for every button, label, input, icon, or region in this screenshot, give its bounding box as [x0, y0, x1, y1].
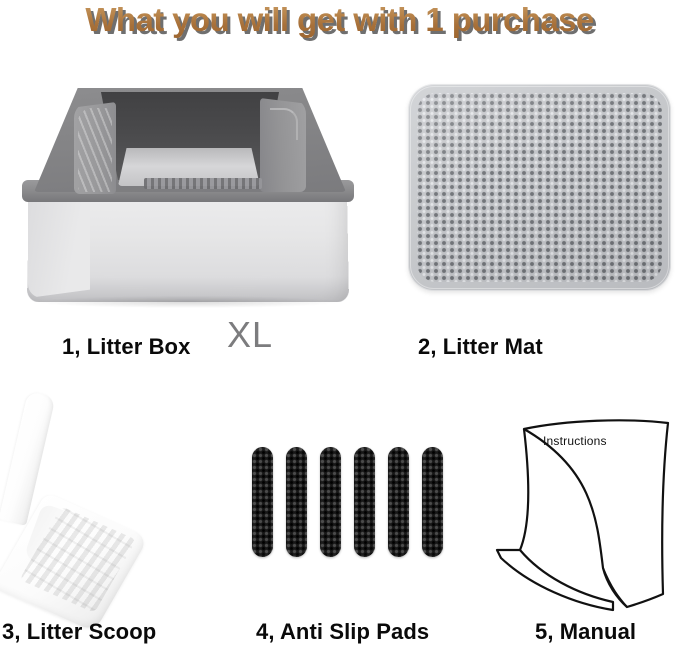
product-image-litter-scoop — [4, 388, 204, 608]
anti-slip-pad — [422, 447, 443, 557]
product-image-litter-box: XL — [22, 82, 362, 312]
anti-slip-pad — [388, 447, 409, 557]
item-label-litter-box: 1, Litter Box — [62, 334, 190, 360]
item-label-litter-scoop: 3, Litter Scoop — [2, 619, 156, 645]
manual-instructions-text: Instructions — [543, 434, 607, 448]
manual-sheet-illustration — [487, 398, 677, 613]
anti-slip-pad — [354, 447, 375, 557]
anti-slip-pad — [286, 447, 307, 557]
litter-box-drop-shadow — [38, 296, 338, 308]
litter-box-size-badge: XL — [227, 314, 273, 356]
page-title: What you will get with 1 purchase — [0, 1, 679, 39]
litter-box-right-wall-highlight — [270, 108, 298, 140]
litter-box-left-wall-ribs — [78, 108, 112, 192]
litter-mat-edge-highlight — [410, 86, 669, 289]
manual-sheet-bottom-curl — [497, 550, 613, 610]
litter-box-left-face — [28, 194, 90, 298]
litter-box-grate — [144, 178, 262, 189]
item-label-manual: 5, Manual — [535, 619, 636, 645]
anti-slip-pad — [320, 447, 341, 557]
product-image-manual: Instructions — [487, 398, 677, 613]
product-contents-infographic: What you will get with 1 purchase XL — [0, 0, 679, 651]
product-image-litter-mat — [408, 84, 671, 291]
anti-slip-pad — [252, 447, 273, 557]
product-image-anti-slip-pads — [252, 447, 444, 563]
item-label-anti-slip-pads: 4, Anti Slip Pads — [256, 619, 429, 645]
manual-sheet-left-edge — [520, 429, 528, 550]
item-label-litter-mat: 2, Litter Mat — [418, 334, 543, 360]
title-banner: What you will get with 1 purchase — [0, 0, 679, 54]
